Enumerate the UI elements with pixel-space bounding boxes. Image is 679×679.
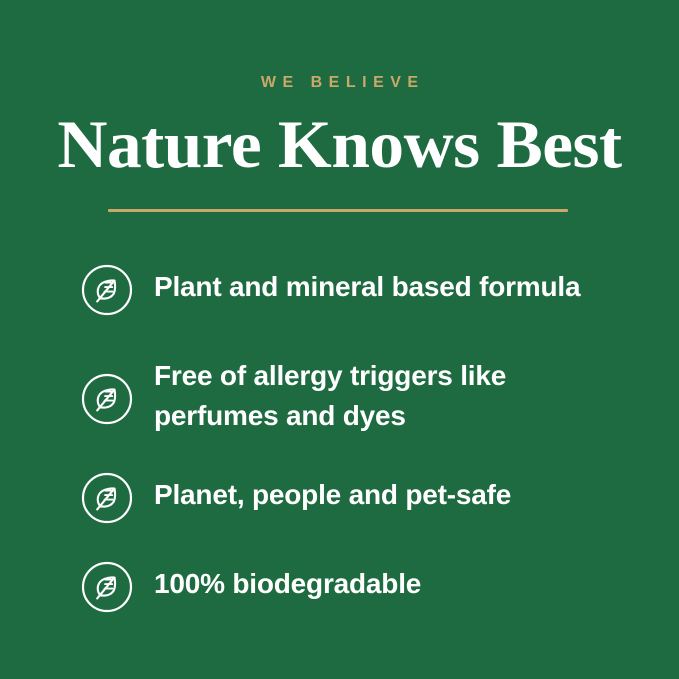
poster-header: WE BELIEVE Nature Knows Best xyxy=(0,72,679,182)
gold-divider xyxy=(108,209,568,212)
list-item: Free of allergy triggers like perfumes a… xyxy=(80,351,640,436)
list-item-label: Free of allergy triggers like perfumes a… xyxy=(154,351,640,436)
list-item: Planet, people and pet-safe xyxy=(80,470,640,525)
divider-container xyxy=(108,209,568,213)
leaf-in-circle-icon xyxy=(80,372,134,426)
list-item-label: Planet, people and pet-safe xyxy=(154,470,640,515)
leaf-in-circle-icon xyxy=(80,471,134,525)
benefits-list: Plant and mineral based formula Free of … xyxy=(80,262,640,614)
leaf-in-circle-icon xyxy=(80,263,134,317)
eyebrow-label: WE BELIEVE xyxy=(0,72,679,94)
leaf-in-circle-icon xyxy=(80,560,134,614)
list-item: Plant and mineral based formula xyxy=(80,262,640,317)
list-item-label: Plant and mineral based formula xyxy=(154,262,640,307)
page-title: Nature Knows Best xyxy=(0,106,679,182)
list-item: 100% biodegradable xyxy=(80,559,640,614)
nature-knows-best-poster: WE BELIEVE Nature Knows Best Plant and m… xyxy=(0,0,679,679)
list-item-label: 100% biodegradable xyxy=(154,559,640,604)
